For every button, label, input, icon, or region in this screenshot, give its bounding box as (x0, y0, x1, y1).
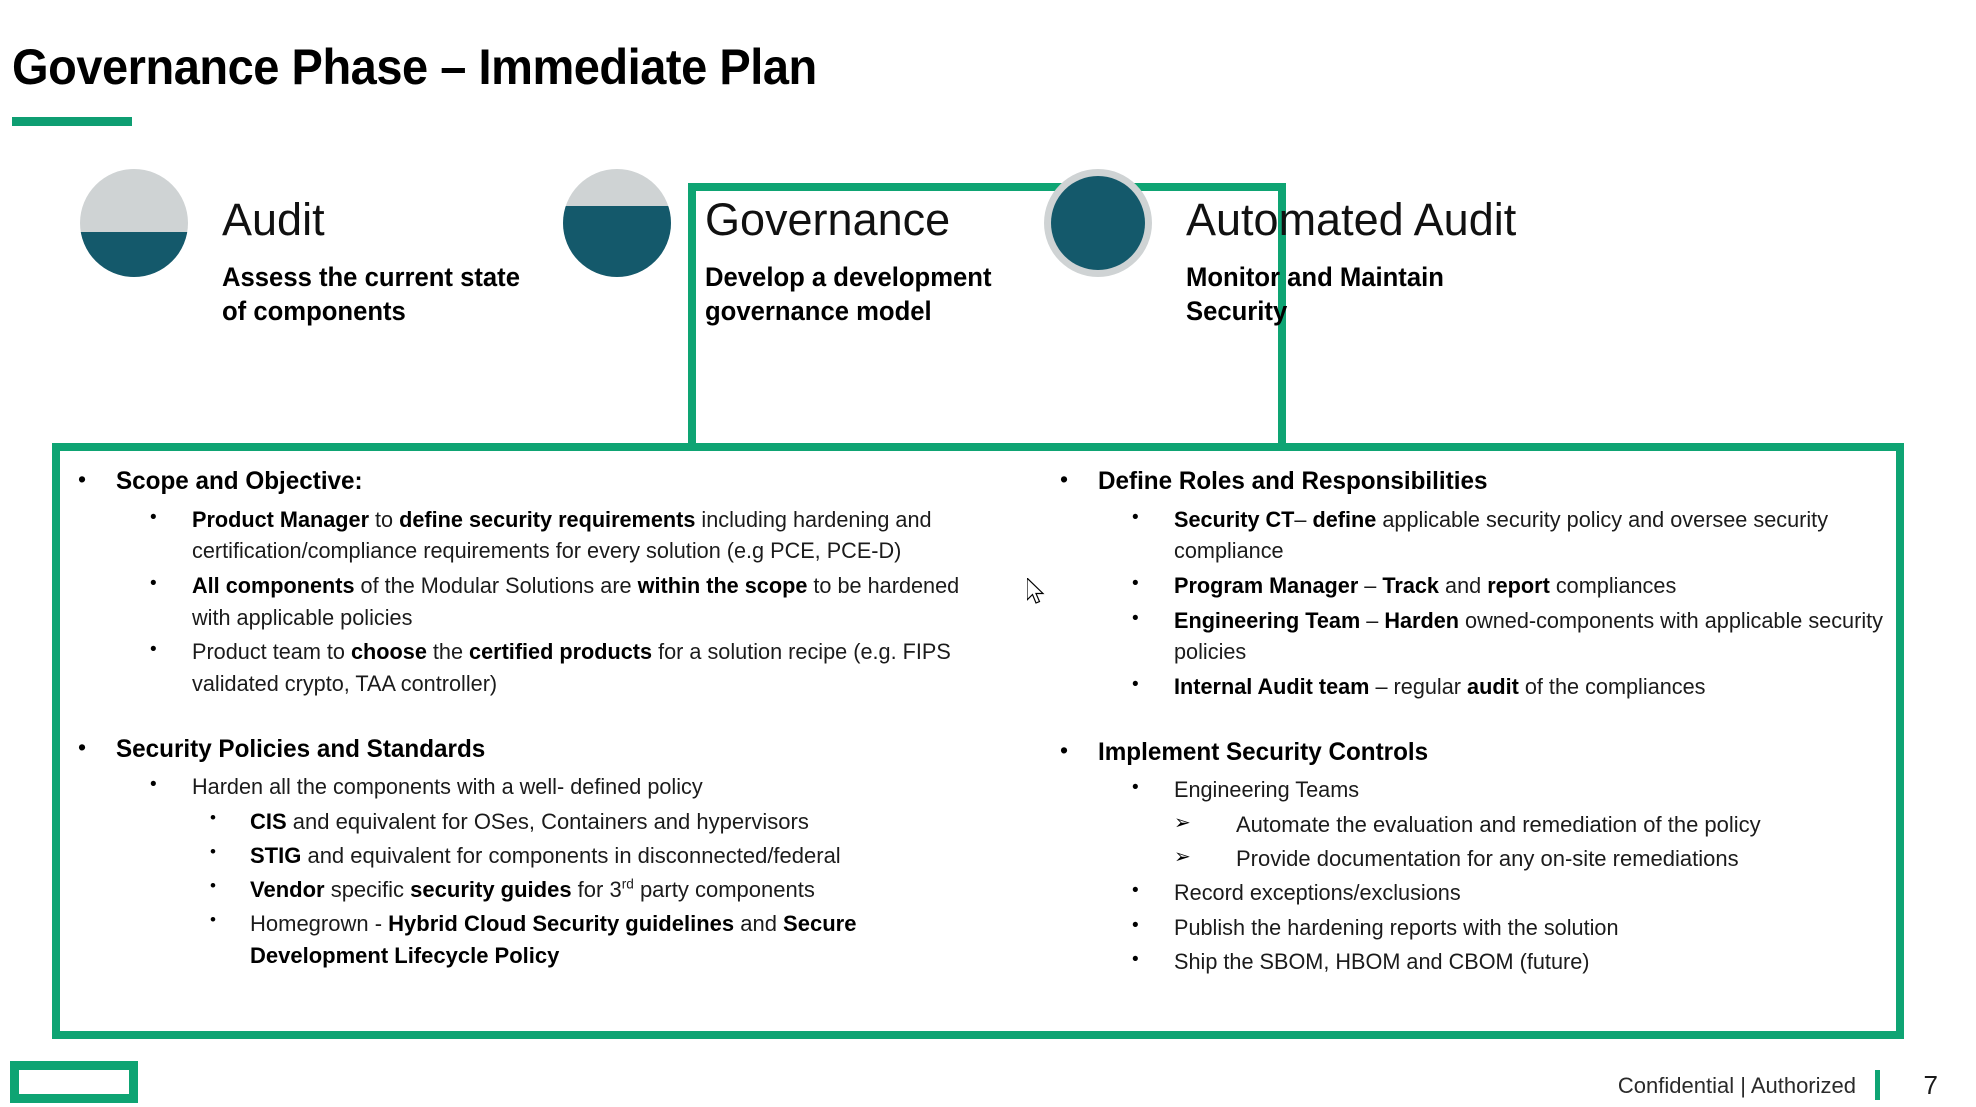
list-item: • Harden all the components with a well-… (142, 771, 1000, 803)
phase-governance-subtitle: Develop a development governance model (705, 260, 1019, 328)
phase-automated-audit-subtitle: Monitor and Maintain Security (1186, 260, 1471, 328)
phase-audit-text: Audit Assess the current state of compon… (222, 169, 552, 328)
level2-list: • Harden all the components with a well-… (142, 771, 1000, 803)
list-item-text: Product team to choose the certified pro… (192, 636, 988, 699)
phase-automated-audit: Automated Audit Monitor and Maintain Sec… (1044, 169, 1516, 328)
bullet-dot-icon: • (1124, 774, 1174, 801)
group-heading-row: • Scope and Objective: (70, 465, 1000, 498)
list-item: • CIS and equivalent for OSes, Container… (202, 806, 1000, 838)
level3-arrow-list: ➢ Automate the evaluation and remediatio… (1174, 809, 1932, 875)
bullet-dot-icon: • (202, 874, 250, 899)
list-item: • Internal Audit team – regular audit of… (1124, 671, 1932, 703)
group-heading-row: • Define Roles and Responsibilities (1052, 465, 1932, 498)
level2-list: • Engineering Teams (1124, 774, 1932, 806)
phase-audit-name: Audit (222, 197, 552, 244)
footer-classification: Confidential | Authorized (1618, 1073, 1856, 1099)
page-number: 7 (1924, 1070, 1938, 1101)
hpe-logo (10, 1061, 138, 1103)
page-title: Governance Phase – Immediate Plan (12, 38, 817, 96)
bullet-dot-icon: • (70, 465, 116, 495)
bullet-dot-icon: • (1124, 671, 1174, 698)
slide-canvas: Governance Phase – Immediate Plan Audit … (0, 0, 1976, 1107)
bullet-dot-icon: • (142, 504, 192, 531)
bullet-dot-icon: • (142, 771, 192, 798)
footer-separator (1875, 1070, 1880, 1100)
list-item-text: Harden all the components with a well- d… (192, 771, 988, 803)
list-item: • Security CT– define applicable securit… (1124, 504, 1932, 567)
list-item: • Engineering Teams (1124, 774, 1932, 806)
title-accent-bar (12, 117, 132, 126)
list-item: • Vendor specific security guides for 3r… (202, 874, 1000, 906)
list-item: • Ship the SBOM, HBOM and CBOM (future) (1124, 946, 1932, 978)
half-filled-circle-icon (80, 169, 188, 277)
list-item-text: Product Manager to define security requi… (192, 504, 988, 567)
content-group-security-policies: • Security Policies and Standards • Hard… (70, 733, 1000, 973)
list-item: • Product Manager to define security req… (142, 504, 1000, 567)
bullet-dot-icon: • (142, 570, 192, 597)
bullet-dot-icon: • (142, 636, 192, 663)
bullet-dot-icon: • (202, 908, 250, 933)
list-item: • Program Manager – Track and report com… (1124, 570, 1932, 602)
list-item-text: Record exceptions/exclusions (1174, 877, 1921, 909)
circle-fill (563, 206, 671, 277)
level3-list: • CIS and equivalent for OSes, Container… (202, 806, 1000, 973)
list-item-text: Program Manager – Track and report compl… (1174, 570, 1921, 602)
bullet-dot-icon: • (1124, 504, 1174, 531)
list-item-text: Publish the hardening reports with the s… (1174, 912, 1921, 944)
bullet-dot-icon: • (1124, 877, 1174, 904)
content-group-define-roles: • Define Roles and Responsibilities • Se… (1052, 465, 1932, 703)
list-item: ➢ Automate the evaluation and remediatio… (1174, 809, 1932, 841)
bullet-dot-icon: • (1052, 736, 1098, 766)
list-item: • Product team to choose the certified p… (142, 636, 1000, 699)
list-item-text: All components of the Modular Solutions … (192, 570, 988, 633)
list-item-text: Ship the SBOM, HBOM and CBOM (future) (1174, 946, 1921, 978)
group-heading: Scope and Objective: (116, 465, 363, 498)
list-item: • All components of the Modular Solution… (142, 570, 1000, 633)
level2-list-continued: • Record exceptions/exclusions • Publish… (1124, 877, 1932, 978)
level2-list: • Security CT– define applicable securit… (1124, 504, 1932, 703)
list-item: • Record exceptions/exclusions (1124, 877, 1932, 909)
content-group-implement-security-controls: • Implement Security Controls • Engineer… (1052, 736, 1932, 978)
right-content-column: • Define Roles and Responsibilities • Se… (1052, 465, 1932, 981)
left-content-column: • Scope and Objective: • Product Manager… (70, 465, 1000, 974)
list-item-text: Provide documentation for any on-site re… (1236, 843, 1932, 875)
group-heading: Security Policies and Standards (116, 733, 485, 766)
list-item-text: Security CT– define applicable security … (1174, 504, 1921, 567)
group-heading-row: • Implement Security Controls (1052, 736, 1932, 769)
phase-audit-subtitle: Assess the current state of components (222, 260, 536, 328)
phase-audit: Audit Assess the current state of compon… (80, 169, 552, 328)
list-item-text: Internal Audit team – regular audit of t… (1174, 671, 1921, 703)
group-heading: Define Roles and Responsibilities (1098, 465, 1487, 498)
mouse-cursor-icon (1027, 578, 1049, 608)
bullet-dot-icon: • (70, 733, 116, 763)
phase-automated-audit-text: Automated Audit Monitor and Maintain Sec… (1186, 169, 1516, 328)
circle-fill (80, 232, 188, 277)
list-item: • Publish the hardening reports with the… (1124, 912, 1932, 944)
two-thirds-filled-circle-icon (563, 169, 671, 277)
phase-automated-audit-name: Automated Audit (1186, 197, 1516, 244)
group-heading: Implement Security Controls (1098, 736, 1428, 769)
bullet-dot-icon: • (1124, 570, 1174, 597)
list-item: • Engineering Team – Harden owned-compon… (1124, 605, 1932, 668)
group-spacer (1052, 706, 1932, 736)
list-item: • STIG and equivalent for components in … (202, 840, 1000, 872)
list-item: • Homegrown - Hybrid Cloud Security guid… (202, 908, 1000, 972)
phase-governance-name: Governance (705, 197, 1035, 244)
group-spacer (70, 703, 1000, 733)
bullet-dot-icon: • (202, 806, 250, 831)
arrow-bullet-icon: ➢ (1174, 809, 1236, 838)
bullet-dot-icon: • (202, 840, 250, 865)
list-item-text: Engineering Team – Harden owned-componen… (1174, 605, 1921, 668)
list-item-text: Vendor specific security guides for 3rd … (250, 874, 1000, 906)
bullet-dot-icon: • (1124, 912, 1174, 939)
list-item-text: Automate the evaluation and remediation … (1236, 809, 1932, 841)
arrow-bullet-icon: ➢ (1174, 843, 1236, 872)
circle-fill (1051, 176, 1145, 270)
list-item: ➢ Provide documentation for any on-site … (1174, 843, 1932, 875)
bullet-dot-icon: • (1052, 465, 1098, 495)
list-item-text: Engineering Teams (1174, 774, 1921, 806)
group-heading-row: • Security Policies and Standards (70, 733, 1000, 766)
full-filled-circle-icon (1044, 169, 1152, 277)
phase-governance: Governance Develop a development governa… (563, 169, 1035, 328)
content-group-scope-and-objective: • Scope and Objective: • Product Manager… (70, 465, 1000, 700)
level2-list: • Product Manager to define security req… (142, 504, 1000, 700)
bullet-dot-icon: • (1124, 946, 1174, 973)
bullet-dot-icon: • (1124, 605, 1174, 632)
list-item-text: STIG and equivalent for components in di… (250, 840, 1000, 872)
list-item-text: CIS and equivalent for OSes, Containers … (250, 806, 1000, 838)
list-item-text: Homegrown - Hybrid Cloud Security guidel… (250, 908, 1000, 972)
phase-governance-text: Governance Develop a development governa… (705, 169, 1035, 328)
